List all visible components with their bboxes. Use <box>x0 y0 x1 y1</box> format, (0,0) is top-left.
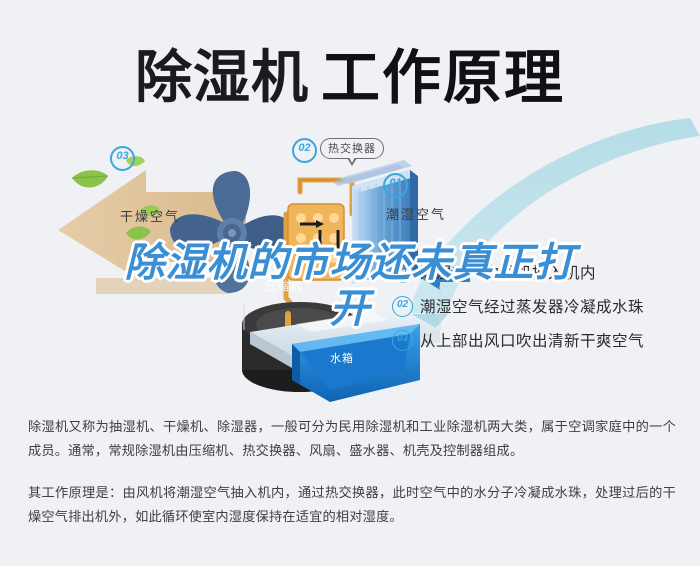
fan-icon <box>170 171 294 293</box>
legend-list: 01 潮湿空气由风机抽入机内 02 潮湿空气经过蒸发器冷凝成水珠 03 从上部出… <box>392 255 692 357</box>
page-root: 除湿机工作原理 <box>0 0 700 566</box>
legend-text-01: 潮湿空气由风机抽入机内 <box>420 261 596 283</box>
condenser-coil <box>288 204 344 280</box>
legend-item-03: 03 从上部出风口吹出清新干爽空气 <box>392 323 692 357</box>
callout-badge-03: 03 <box>110 146 135 171</box>
callout-label-dry-air: 干燥空气 <box>120 206 180 225</box>
legend-text-02: 潮湿空气经过蒸发器冷凝成水珠 <box>420 295 644 317</box>
paragraph-2: 其工作原理是：由风机将潮湿空气抽入机内，通过热交换器，此时空气中的水分子冷凝成水… <box>28 481 676 529</box>
callout-badge-01: 01 <box>383 173 408 198</box>
page-title-part1: 除湿机 <box>135 46 309 110</box>
legend-badge-02: 02 <box>392 296 413 317</box>
callout-bubble-heat-exchanger: 热交换器 <box>320 138 384 159</box>
part-label-compressor: 压缩机 <box>266 278 302 294</box>
legend-badge-03: 03 <box>392 330 413 351</box>
callout-badge-02: 02 <box>292 138 317 163</box>
page-title-part2: 工作原理 <box>321 45 565 111</box>
paragraph-1: 除湿机又称为抽湿机、干燥机、除湿器，一般可分为民用除湿机和工业除湿机两大类，属于… <box>28 415 676 463</box>
page-title: 除湿机工作原理 <box>0 30 700 115</box>
legend-text-03: 从上部出风口吹出清新干爽空气 <box>420 329 644 351</box>
callout-label-humid-air: 潮湿空气 <box>386 204 446 223</box>
legend-item-01: 01 潮湿空气由风机抽入机内 <box>392 255 692 289</box>
part-label-water-tank: 水箱 <box>330 350 354 366</box>
legend-item-02: 02 潮湿空气经过蒸发器冷凝成水珠 <box>392 289 692 323</box>
legend-badge-01: 01 <box>392 262 413 283</box>
dry-air-arrow-shadow <box>96 278 230 294</box>
body-copy: 除湿机又称为抽湿机、干燥机、除湿器，一般可分为民用除湿机和工业除湿机两大类，属于… <box>28 415 676 529</box>
